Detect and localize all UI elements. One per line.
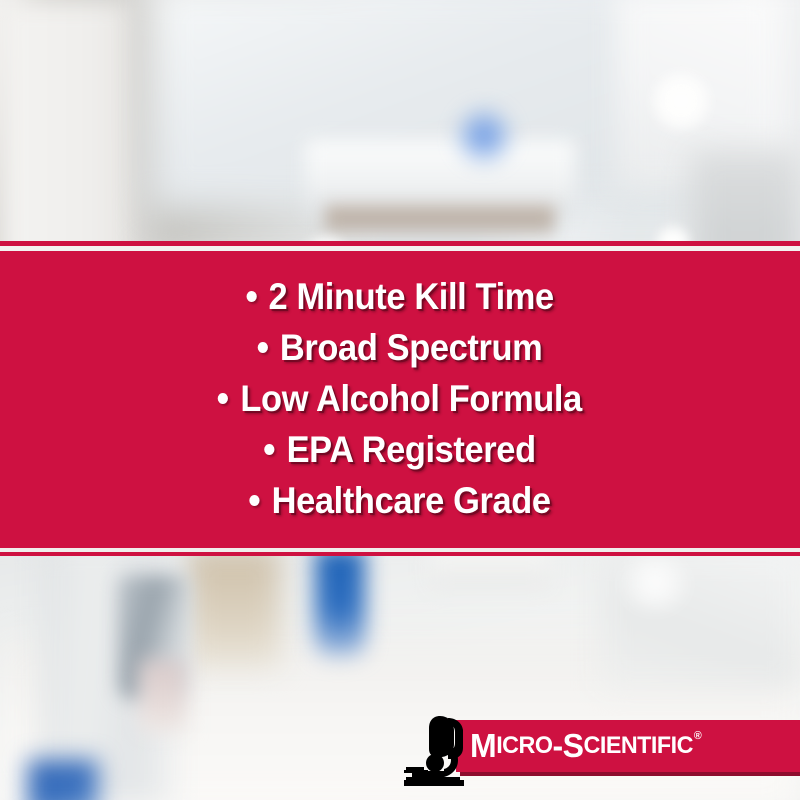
feature-bullet-label: Broad Spectrum [280,329,542,366]
background-fixture-underside [325,205,555,235]
banner-body: 2 Minute Kill Time Broad Spectrum Low Al… [0,251,800,548]
background-dispenser-base [140,660,186,732]
background-tan-wall [188,548,280,668]
product-feature-poster: 2 Minute Kill Time Broad Spectrum Low Al… [0,0,800,800]
logo-wordmark: MICRO-SCIENTIFIC® [470,720,700,772]
feature-bullet-item: Broad Spectrum [28,329,772,366]
feature-bullet-list: 2 Minute Kill Time Broad Spectrum Low Al… [0,278,800,519]
registered-trademark-icon: ® [694,730,701,742]
logo-word-scientific-rest: CIENTIFIC [584,732,693,760]
bullet-dot-icon [246,291,256,302]
feature-bullet-label: Low Alcohol Formula [240,380,581,417]
background-light-fixture [305,140,575,215]
logo-hyphen: - [552,727,562,765]
background-blue-object-lower [28,760,98,800]
feature-bullet-label: 2 Minute Kill Time [269,278,554,315]
bullet-dot-icon [249,495,259,506]
bullet-dot-icon [264,444,274,455]
brand-logo: MICRO-SCIENTIFIC® [404,714,800,786]
feature-bullet-item: 2 Minute Kill Time [28,278,772,315]
background-light-bulb [650,70,712,132]
logo-word-scientific-cap: S [563,727,584,765]
background-blue-glow [455,105,513,167]
feature-bullet-item: Low Alcohol Formula [28,380,772,417]
logo-word-micro-cap: M [470,727,496,765]
feature-bullet-label: EPA Registered [287,431,536,468]
feature-bullet-label: Healthcare Grade [272,482,551,519]
feature-bullet-item: Healthcare Grade [28,482,772,519]
bullet-dot-icon [258,342,268,353]
banner-bottom-rule [0,552,800,556]
bullet-dot-icon [218,393,228,404]
feature-bullet-item: EPA Registered [28,431,772,468]
background-window-glow [620,555,690,611]
logo-word-micro-rest: ICRO [496,732,552,760]
feature-banner: 2 Minute Kill Time Broad Spectrum Low Al… [0,241,800,556]
background-blue-object [315,548,365,660]
